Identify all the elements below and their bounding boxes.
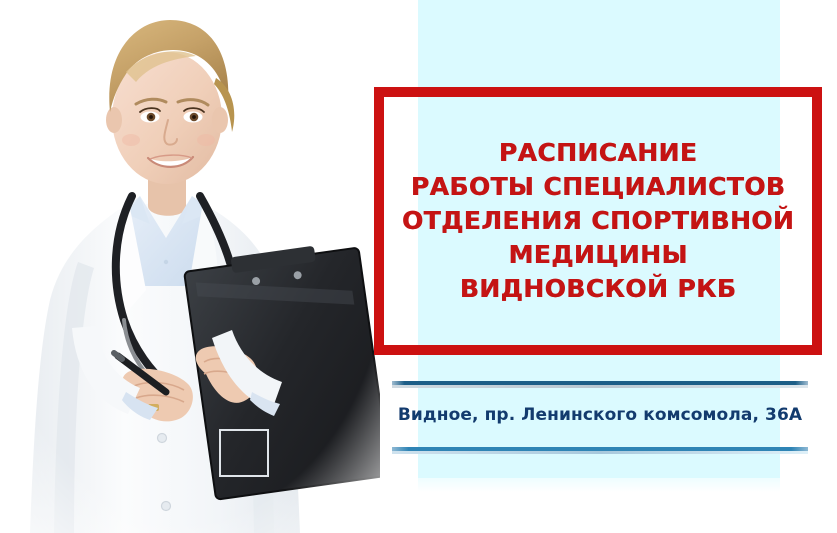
title-frame-border	[374, 87, 822, 355]
poster-root: РАСПИСАНИЕ РАБОТЫ СПЕЦИАЛИСТОВ ОТДЕЛЕНИЯ…	[0, 0, 837, 533]
address-text: Видное, пр. Ленинского комсомола, 36А	[392, 405, 808, 425]
address-rule-top-shadow	[392, 385, 808, 388]
doctor-photo	[0, 0, 380, 533]
cyan-panel-fade	[418, 478, 780, 492]
address-rule-bottom-shadow	[392, 451, 808, 454]
